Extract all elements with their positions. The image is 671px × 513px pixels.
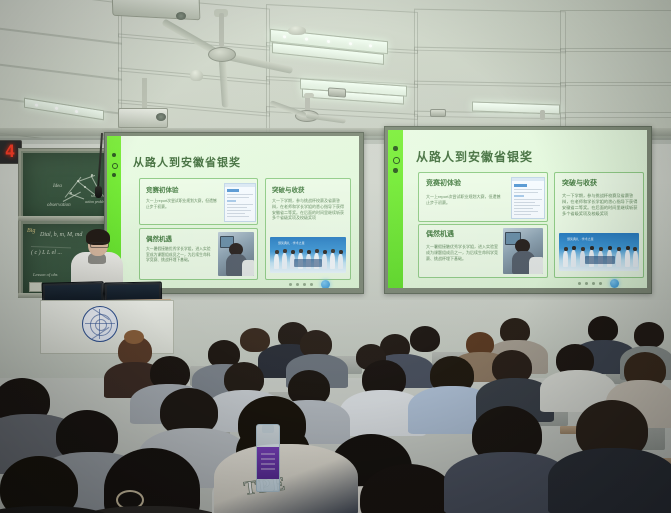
ceiling-tile [560, 48, 671, 86]
slide-card-competition: 竞赛初体验 大一上report次尝试职业规划大赛，但遗憾止步于初赛。 [418, 172, 548, 222]
audience-head [240, 328, 270, 352]
slide-strip-dot [393, 157, 400, 164]
audience-head [588, 316, 618, 342]
blackboard-note: Big [27, 228, 35, 234]
card-body: 大一上report次尝试职业规划大赛，但遗憾止步于初赛。 [146, 199, 218, 210]
audience-head [0, 456, 78, 513]
next-slide-button[interactable] [610, 279, 619, 288]
pagination-dot[interactable] [599, 282, 602, 285]
card-body: 大一下学期，参与挑战杯校赛及省赛答辩，在老师和学长学姐的悉心指导下获得安徽省二等… [562, 193, 638, 217]
chalk-eraser [29, 282, 42, 292]
blackboard-note: ( c ) L L el ... [31, 250, 62, 256]
projector-lens-icon [176, 12, 186, 20]
blackboard-note: Lesson of obs [33, 272, 58, 277]
pagination-dot[interactable] [592, 282, 595, 285]
blackboard-note: Idea [53, 184, 62, 189]
projector-lens-icon [156, 113, 166, 121]
presenter-glasses-icon [90, 242, 109, 248]
ui-screenshot-thumbnail [224, 183, 256, 222]
smoke-detector-icon [190, 70, 203, 81]
slide-left: 从路人到安徽省银奖 竞赛初体验 大一上report次尝试职业规划大赛，但遗憾止步… [107, 136, 359, 288]
clock-digit: 4 [5, 142, 15, 162]
slide-strip-dot [112, 153, 116, 157]
lecture-hall-photo: 4 Idea something action problem observat… [0, 0, 671, 513]
card-body: 大一上report次尝试职业规划大赛，但遗憾止步于初赛。 [426, 194, 504, 206]
audience-head [410, 326, 440, 352]
slide-card-breakthrough: 突破与收获 大一下学期，参与挑战杯校赛及省赛答辩，在老师和学长学姐的悉心指导下获… [554, 172, 644, 278]
blackboard-note: Dial, b, m, M, md [40, 232, 82, 238]
slide-card-competition: 竞赛初体验 大一上report次尝试职业规划大赛，但遗憾止步于初赛。 [139, 178, 258, 225]
ceiling-tile [560, 10, 671, 52]
audience-head [634, 322, 664, 348]
card-body: 大一下学期，参与挑战杯校赛及省赛答辩，在老师和学长学姐的悉心指导下获得安徽省二等… [272, 198, 344, 221]
slide-card-opportunity: 偶然机遇 大一暑假接触优秀学长学姐，进入实验室成为课题组成员之一，为后续生命科学… [139, 228, 258, 280]
microphone-icon [95, 186, 102, 198]
blackboard-note: observation [47, 203, 71, 208]
projection-screen-left[interactable]: 从路人到安徽省银奖 竞赛初体验 大一上report次尝试职业规划大赛，但遗憾止步… [107, 136, 359, 288]
pagination-dot[interactable] [585, 282, 588, 285]
photo-lab-student [503, 228, 543, 274]
pagination-dot[interactable] [303, 283, 306, 286]
next-slide-button[interactable] [321, 280, 330, 288]
hair-bun [124, 330, 144, 344]
photo-group-award: 颁奖典礼 · 学术之星 [270, 237, 346, 273]
slide-pagination[interactable] [289, 280, 330, 288]
card-heading: 偶然机遇 [426, 229, 454, 239]
card-heading: 突破与收获 [562, 178, 597, 188]
slide-right: 从路人到安徽省银奖 竞赛初体验 大一上report次尝试职业规划大赛，但遗憾止步… [388, 130, 647, 288]
slide-strip-dot [112, 163, 118, 169]
card-heading: 偶然机遇 [146, 233, 172, 243]
fan-ceiling-mount [304, 93, 314, 98]
ceiling-speaker [328, 87, 346, 97]
card-body: 大一暑假接触优秀学长学姐，进入实验室成为课题组成员之一，为后续生命科学竞赛、挑战… [146, 247, 214, 264]
slide-card-breakthrough: 突破与收获 大一下学期，参与挑战杯校赛及省赛答辩，在老师和学长学姐的悉心指导下获… [265, 178, 351, 280]
slide-strip-dot [112, 173, 116, 177]
slide-accent-strip [388, 130, 403, 288]
slide-strip-dot [393, 168, 398, 173]
university-emblem [82, 306, 118, 342]
card-body: 大一暑假接触优秀学长学姐，进入实验室成为课题组成员之一，为后续生命科学竞赛、挑战… [426, 244, 498, 261]
slide-strip-dot [393, 146, 398, 151]
card-heading: 竞赛初体验 [426, 178, 461, 188]
photo-lab-student [218, 232, 254, 276]
projection-screen-right[interactable]: 从路人到安徽省银奖 竞赛初体验 大一上report次尝试职业规划大赛，但遗憾止步… [388, 130, 647, 288]
card-heading: 突破与收获 [272, 184, 305, 194]
audience-shoulder [548, 448, 671, 513]
card-heading: 竞赛初体验 [146, 184, 179, 194]
slide-card-opportunity: 偶然机遇 大一暑假接触优秀学长学姐，进入实验室成为课题组成员之一，为后续生命科学… [418, 224, 548, 278]
water-bottle [256, 424, 280, 492]
photo-group-award: 颁奖典礼 · 学术之星 [559, 233, 639, 271]
smoke-detector-icon [288, 26, 306, 35]
audience: TPE [0, 300, 671, 513]
pagination-dot[interactable] [289, 283, 292, 286]
pagination-dot[interactable] [578, 282, 581, 285]
fan-rod [219, 13, 224, 47]
slide-title: 从路人到安徽省银奖 [133, 154, 241, 170]
slide-pagination[interactable] [578, 279, 619, 288]
ui-screenshot-thumbnail [511, 177, 545, 219]
fan-hub [208, 47, 236, 62]
ceiling-speaker [430, 109, 446, 117]
slide-title: 从路人到安徽省银奖 [416, 148, 533, 165]
pagination-dot[interactable] [296, 283, 299, 286]
projector-mount [142, 78, 147, 110]
pagination-dot[interactable] [310, 283, 313, 286]
fan-rod [540, 110, 545, 120]
